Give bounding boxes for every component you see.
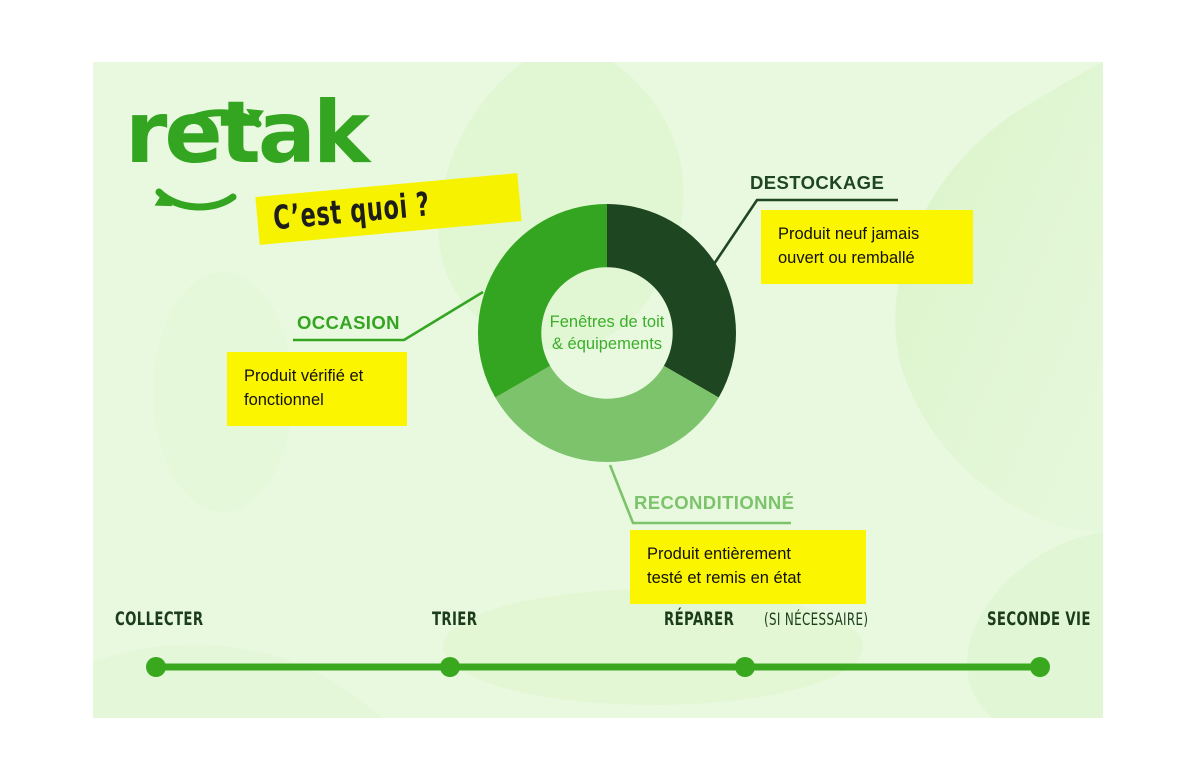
callout-title-destockage: DESTOCKAGE [750,172,884,194]
timeline-label-trier: TRIER [432,610,497,629]
callout-box-occasion: Produit vérifié et fonctionnel [227,352,407,426]
timeline-label-collecter-text: COLLECTER [115,610,203,629]
callout-title-occasion: OCCASION [297,312,400,334]
donut-center-line1: Fenêtres de toit [550,311,665,333]
donut-center-label: Fenêtres de toit & équipements [468,194,746,472]
brand-logo: retak C’est quoi ? [125,90,505,270]
infographic-root: retak C’est quoi ? [0,0,1200,780]
timeline-label-seconde-vie: SECONDE VIE [987,610,1103,629]
timeline-track [93,610,1103,700]
timeline-label-seconde-vie-text: SECONDE VIE [987,610,1091,629]
infographic-card: retak C’est quoi ? [93,62,1103,718]
callout-box-reconditionne: Produit entièrement testé et remis en ét… [630,530,866,604]
timeline-dot-collecter[interactable] [146,657,166,677]
timeline-label-reparer-suffix: (SI NÉCESSAIRE) [764,612,868,629]
donut-center-line2: & équipements [552,333,662,355]
timeline-dot-seconde-vie[interactable] [1030,657,1050,677]
donut-chart: Fenêtres de toit & équipements [468,194,746,472]
timeline-label-trier-text: TRIER [432,610,477,629]
timeline-label-reparer: RÉPARER (SI NÉCESSAIRE) [664,610,913,629]
timeline-dot-reparer[interactable] [735,657,755,677]
callout-box-destockage: Produit neuf jamais ouvert ou remballé [761,210,973,284]
timeline-dot-trier[interactable] [440,657,460,677]
tagline-text: C’est quoi ? [272,187,431,234]
process-timeline: COLLECTER TRIER RÉPARER (SI NÉCESSAIRE) … [93,610,1103,700]
timeline-label-collecter: COLLECTER [115,610,241,629]
callout-title-reconditionne: RECONDITIONNÉ [634,492,794,514]
timeline-label-reparer-text: RÉPARER [664,610,734,629]
